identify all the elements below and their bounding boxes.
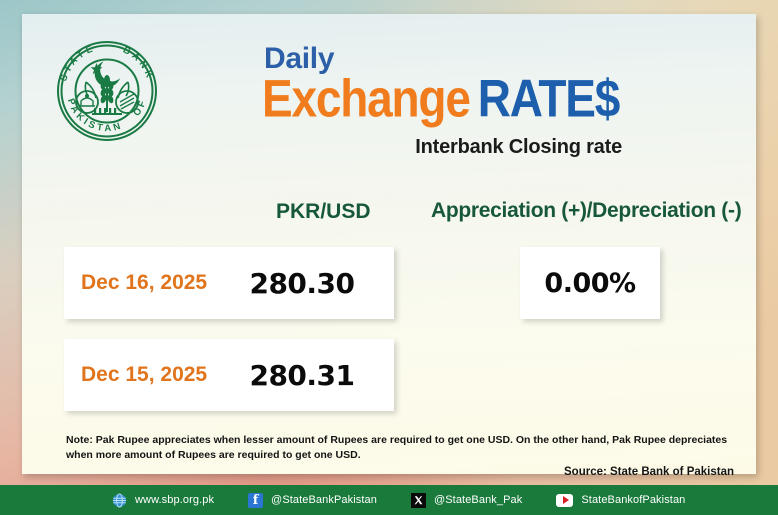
footer-label: www.sbp.org.pk: [135, 494, 214, 506]
disclaimer-note: Note: Pak Rupee appreciates when lesser …: [66, 433, 734, 463]
x-twitter-icon: [411, 493, 426, 508]
content-card: STATE BANK PAKISTAN OF Daily ExchangeRAT…: [22, 14, 756, 474]
state-bank-of-pakistan-logo: STATE BANK PAKISTAN OF: [48, 32, 166, 150]
change-value: 0.00%: [544, 268, 635, 299]
source-label: Source: State Bank of Pakistan: [564, 466, 734, 478]
exchange-rate-poster: STATE BANK PAKISTAN OF Daily ExchangeRAT…: [0, 0, 778, 515]
globe-icon: [112, 493, 127, 508]
title-exchange: Exchange: [262, 69, 470, 128]
footer-label: StateBankofPakistan: [581, 494, 685, 506]
title-rates: RATE$: [478, 69, 619, 128]
footer-link-youtube[interactable]: StateBankofPakistan: [556, 494, 685, 507]
youtube-icon: [556, 494, 573, 507]
poster-subtitle: Interbank Closing rate: [262, 136, 732, 159]
svg-text:BANK: BANK: [121, 45, 156, 83]
footer-link-website[interactable]: www.sbp.org.pk: [112, 493, 214, 508]
footer-label: @StateBank_Pak: [434, 494, 522, 506]
column-header-rate: PKR/USD: [276, 200, 371, 224]
poster-title-block: Daily ExchangeRATE$ Interbank Closing ra…: [262, 44, 732, 159]
footer-link-facebook[interactable]: f @StateBankPakistan: [248, 493, 377, 508]
table-row: Dec 16, 2025 280.30: [64, 247, 394, 319]
social-footer-bar: www.sbp.org.pk f @StateBankPakistan @Sta…: [0, 485, 778, 515]
table-row: Dec 15, 2025 280.31: [64, 339, 394, 411]
footer-link-twitter-x[interactable]: @StateBank_Pak: [411, 493, 522, 508]
rate-value: 280.30: [224, 267, 394, 300]
rate-date: Dec 15, 2025: [64, 363, 224, 387]
title-main: ExchangeRATE$: [262, 72, 732, 124]
footer-label: @StateBankPakistan: [271, 494, 377, 506]
rate-date: Dec 16, 2025: [64, 271, 224, 295]
facebook-icon: f: [248, 493, 263, 508]
rate-value: 280.31: [224, 359, 394, 392]
change-value-box: 0.00%: [520, 247, 660, 319]
column-header-change: Appreciation (+)/Depreciation (-): [431, 199, 741, 223]
